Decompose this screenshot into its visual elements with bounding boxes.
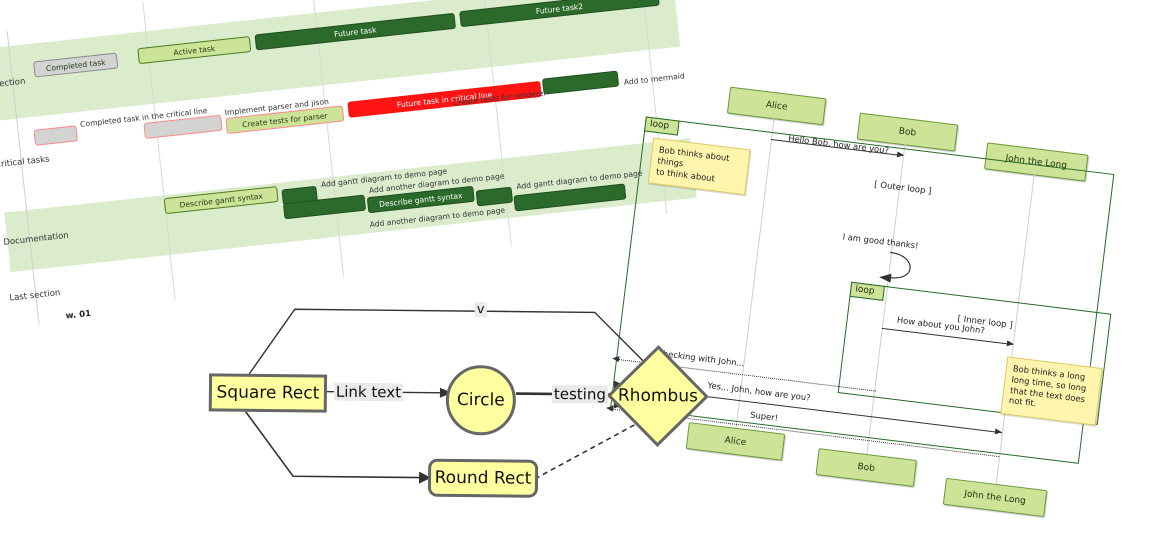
gantt-diagram: Adding GANTT diagram functionality to me… — [0, 0, 702, 318]
sequence-note-1: Bob thinks a long long time, so long tha… — [1000, 356, 1102, 425]
actor-label: John the Long — [964, 489, 1027, 506]
node-label: Round Rect — [435, 468, 532, 489]
sequence-arrowhead — [1007, 340, 1015, 347]
gantt-axis-tick: w. 01 — [65, 309, 91, 322]
node-label: Circle — [457, 390, 505, 410]
diagram-collage: Adding GANTT diagram functionality to me… — [0, 0, 1170, 497]
flowchart-node-square-rect[interactable]: Square Rect — [209, 373, 327, 412]
node-label: Rhombus — [618, 386, 698, 407]
actor-label: Alice — [765, 100, 788, 113]
actor-label: Bob — [898, 126, 916, 138]
sequence-arrowhead — [995, 428, 1003, 435]
flowchart-edge-label-testing: testing — [552, 385, 608, 404]
sequence-actor-top-0[interactable]: Alice — [727, 87, 827, 126]
flowchart-edge-label-v: v — [475, 302, 487, 317]
flowchart-diagram: Square Rect Circle Rhombus Round Rect Li… — [173, 290, 745, 506]
flowchart-node-round-rect[interactable]: Round Rect — [428, 459, 538, 498]
sequence-actor-bottom-1[interactable]: Bob — [815, 448, 917, 487]
flowchart-edge-label-link-text: Link text — [334, 383, 403, 402]
sequence-actor-bottom-2[interactable]: John the Long — [943, 478, 1048, 517]
flowchart-node-circle[interactable]: Circle — [445, 365, 516, 436]
actor-label: Bob — [857, 461, 875, 473]
node-label: Square Rect — [216, 382, 319, 403]
sequence-arrowhead — [897, 151, 905, 158]
